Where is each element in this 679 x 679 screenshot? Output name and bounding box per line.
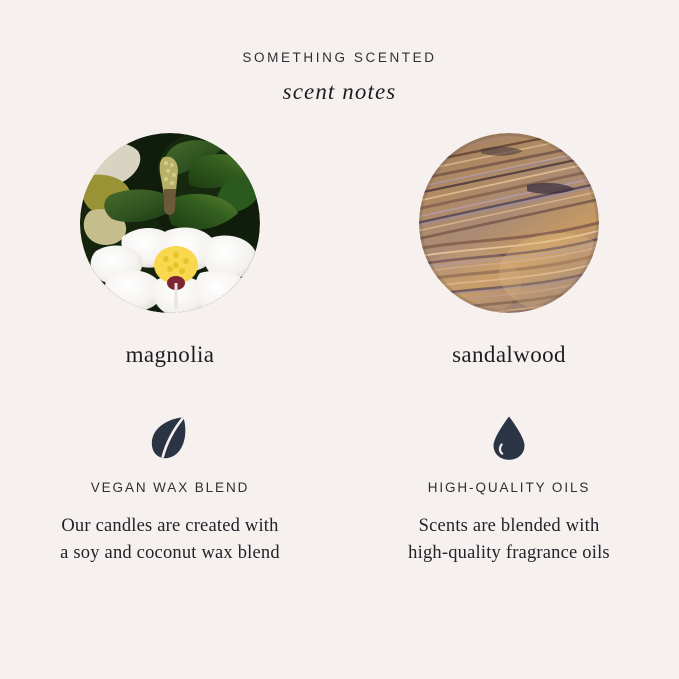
scent-notes-page: SOMETHING SCENTED scent notes [0, 0, 679, 679]
feature-body-line: Our candles are created with [60, 513, 280, 541]
feature-body-line: a soy and coconut wax blend [60, 540, 280, 568]
feature-body: Scents are blended with high-quality fra… [408, 513, 610, 569]
feature-title: VEGAN WAX BLEND [91, 480, 250, 496]
magnolia-flower-photo [80, 133, 260, 313]
scent-label: sandalwood [452, 341, 566, 369]
scent-item-sandalwood: sandalwood [340, 133, 679, 369]
feature-body: Our candles are created with a soy and c… [60, 513, 280, 569]
scent-list: magnolia [0, 133, 679, 369]
eyebrow-label: SOMETHING SCENTED [0, 50, 679, 66]
feature-body-line: Scents are blended with [408, 513, 610, 541]
feature-title: HIGH-QUALITY OILS [428, 480, 591, 496]
scent-label: magnolia [126, 341, 215, 369]
droplet-icon [486, 415, 532, 461]
feature-list: VEGAN WAX BLEND Our candles are created … [0, 415, 679, 568]
scent-item-magnolia: magnolia [1, 133, 340, 369]
leaf-icon [147, 415, 193, 461]
feature-item-high-quality-oils: HIGH-QUALITY OILS Scents are blended wit… [340, 415, 679, 568]
page-header: SOMETHING SCENTED scent notes [0, 0, 679, 106]
feature-body-line: high-quality fragrance oils [408, 540, 610, 568]
feature-item-vegan-wax-blend: VEGAN WAX BLEND Our candles are created … [1, 415, 340, 568]
page-title: scent notes [0, 78, 679, 106]
sandalwood-grain-photo [419, 133, 599, 313]
